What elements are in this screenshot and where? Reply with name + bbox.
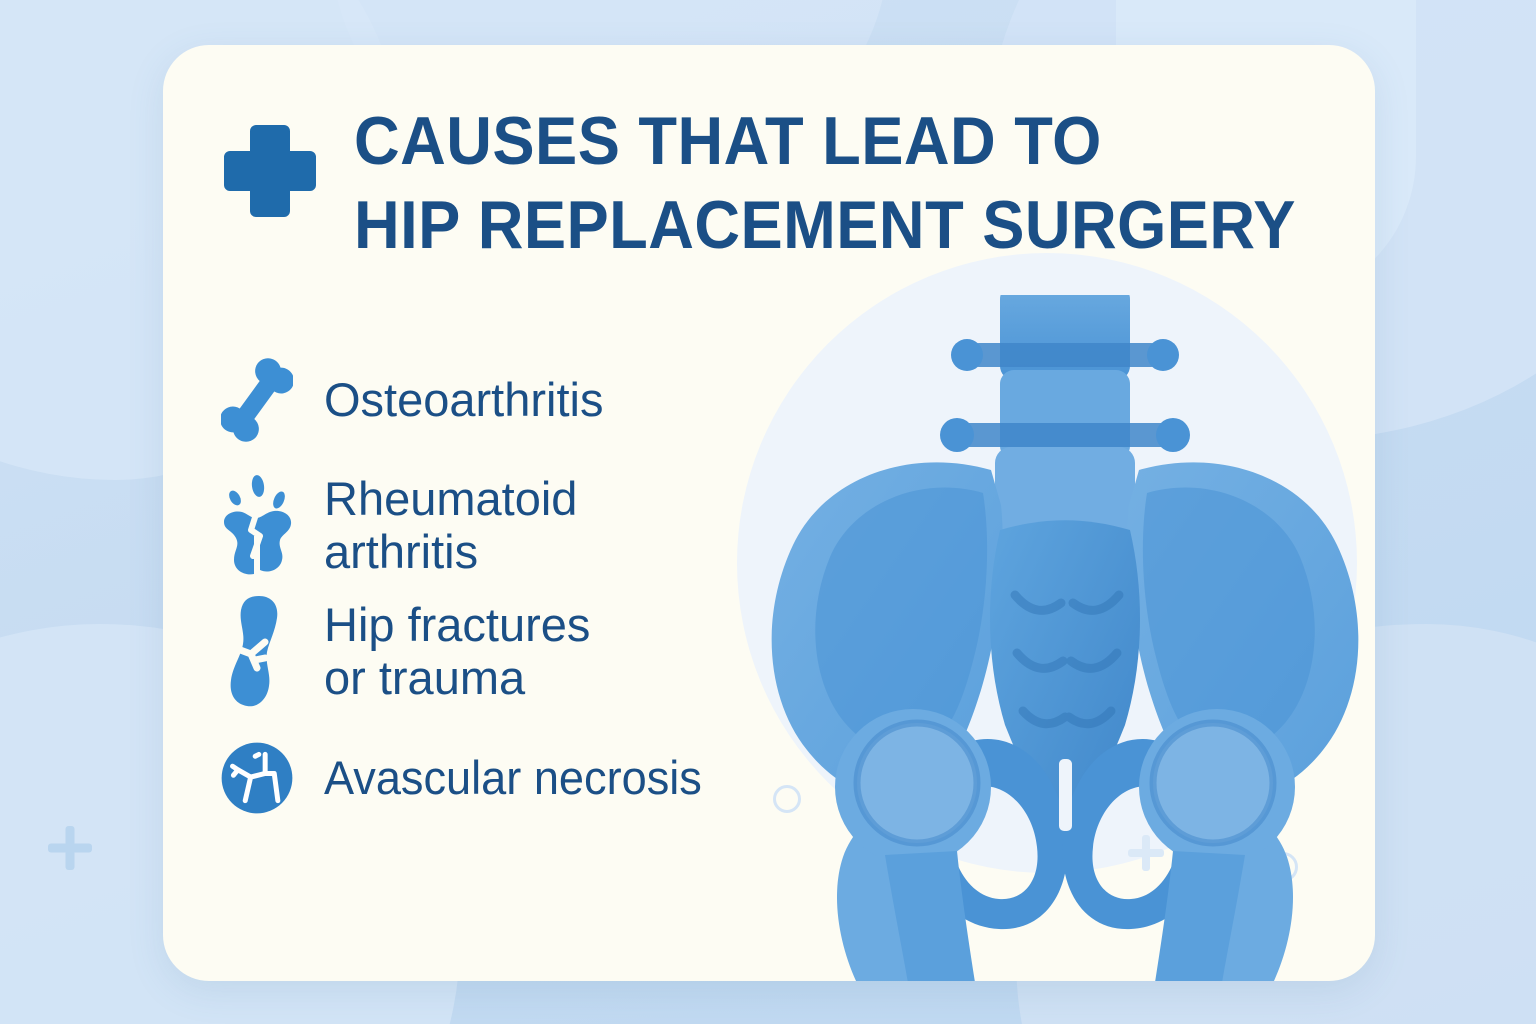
cause-label: Hip fractures or trauma bbox=[324, 599, 590, 704]
inflamed-joint-icon bbox=[218, 474, 296, 578]
card-header: CAUSES THAT LEAD TO HIP REPLACEMENT SURG… bbox=[218, 107, 1367, 259]
medical-cross-icon bbox=[218, 119, 322, 228]
plus-icon bbox=[48, 826, 92, 870]
page-title-line-2: HIP REPLACEMENT SURGERY bbox=[354, 191, 1296, 259]
hip-pelvis-anatomy-illustration bbox=[745, 295, 1375, 981]
cause-label: Osteoarthritis bbox=[324, 374, 603, 427]
cause-item-rheumatoid-arthritis[interactable]: Rheumatoid arthritis bbox=[218, 463, 838, 589]
cause-item-hip-fractures[interactable]: Hip fractures or trauma bbox=[218, 589, 838, 715]
necrosis-badge-icon bbox=[218, 726, 296, 830]
causes-list: Osteoarthritis Rheumatoid arthritis bbox=[218, 337, 838, 841]
page-title: CAUSES THAT LEAD TO HIP REPLACEMENT SURG… bbox=[354, 107, 1296, 259]
page-title-line-1: CAUSES THAT LEAD TO bbox=[354, 107, 1296, 175]
cause-label: Rheumatoid arthritis bbox=[324, 473, 577, 578]
cause-label: Avascular necrosis bbox=[324, 752, 702, 805]
cause-item-osteoarthritis[interactable]: Osteoarthritis bbox=[218, 337, 838, 463]
pubic-symphysis bbox=[1059, 759, 1072, 831]
cause-item-avascular-necrosis[interactable]: Avascular necrosis bbox=[218, 715, 838, 841]
bone-icon bbox=[218, 348, 296, 452]
fractured-bone-icon bbox=[218, 600, 296, 704]
infographic-card: CAUSES THAT LEAD TO HIP REPLACEMENT SURG… bbox=[163, 45, 1375, 981]
